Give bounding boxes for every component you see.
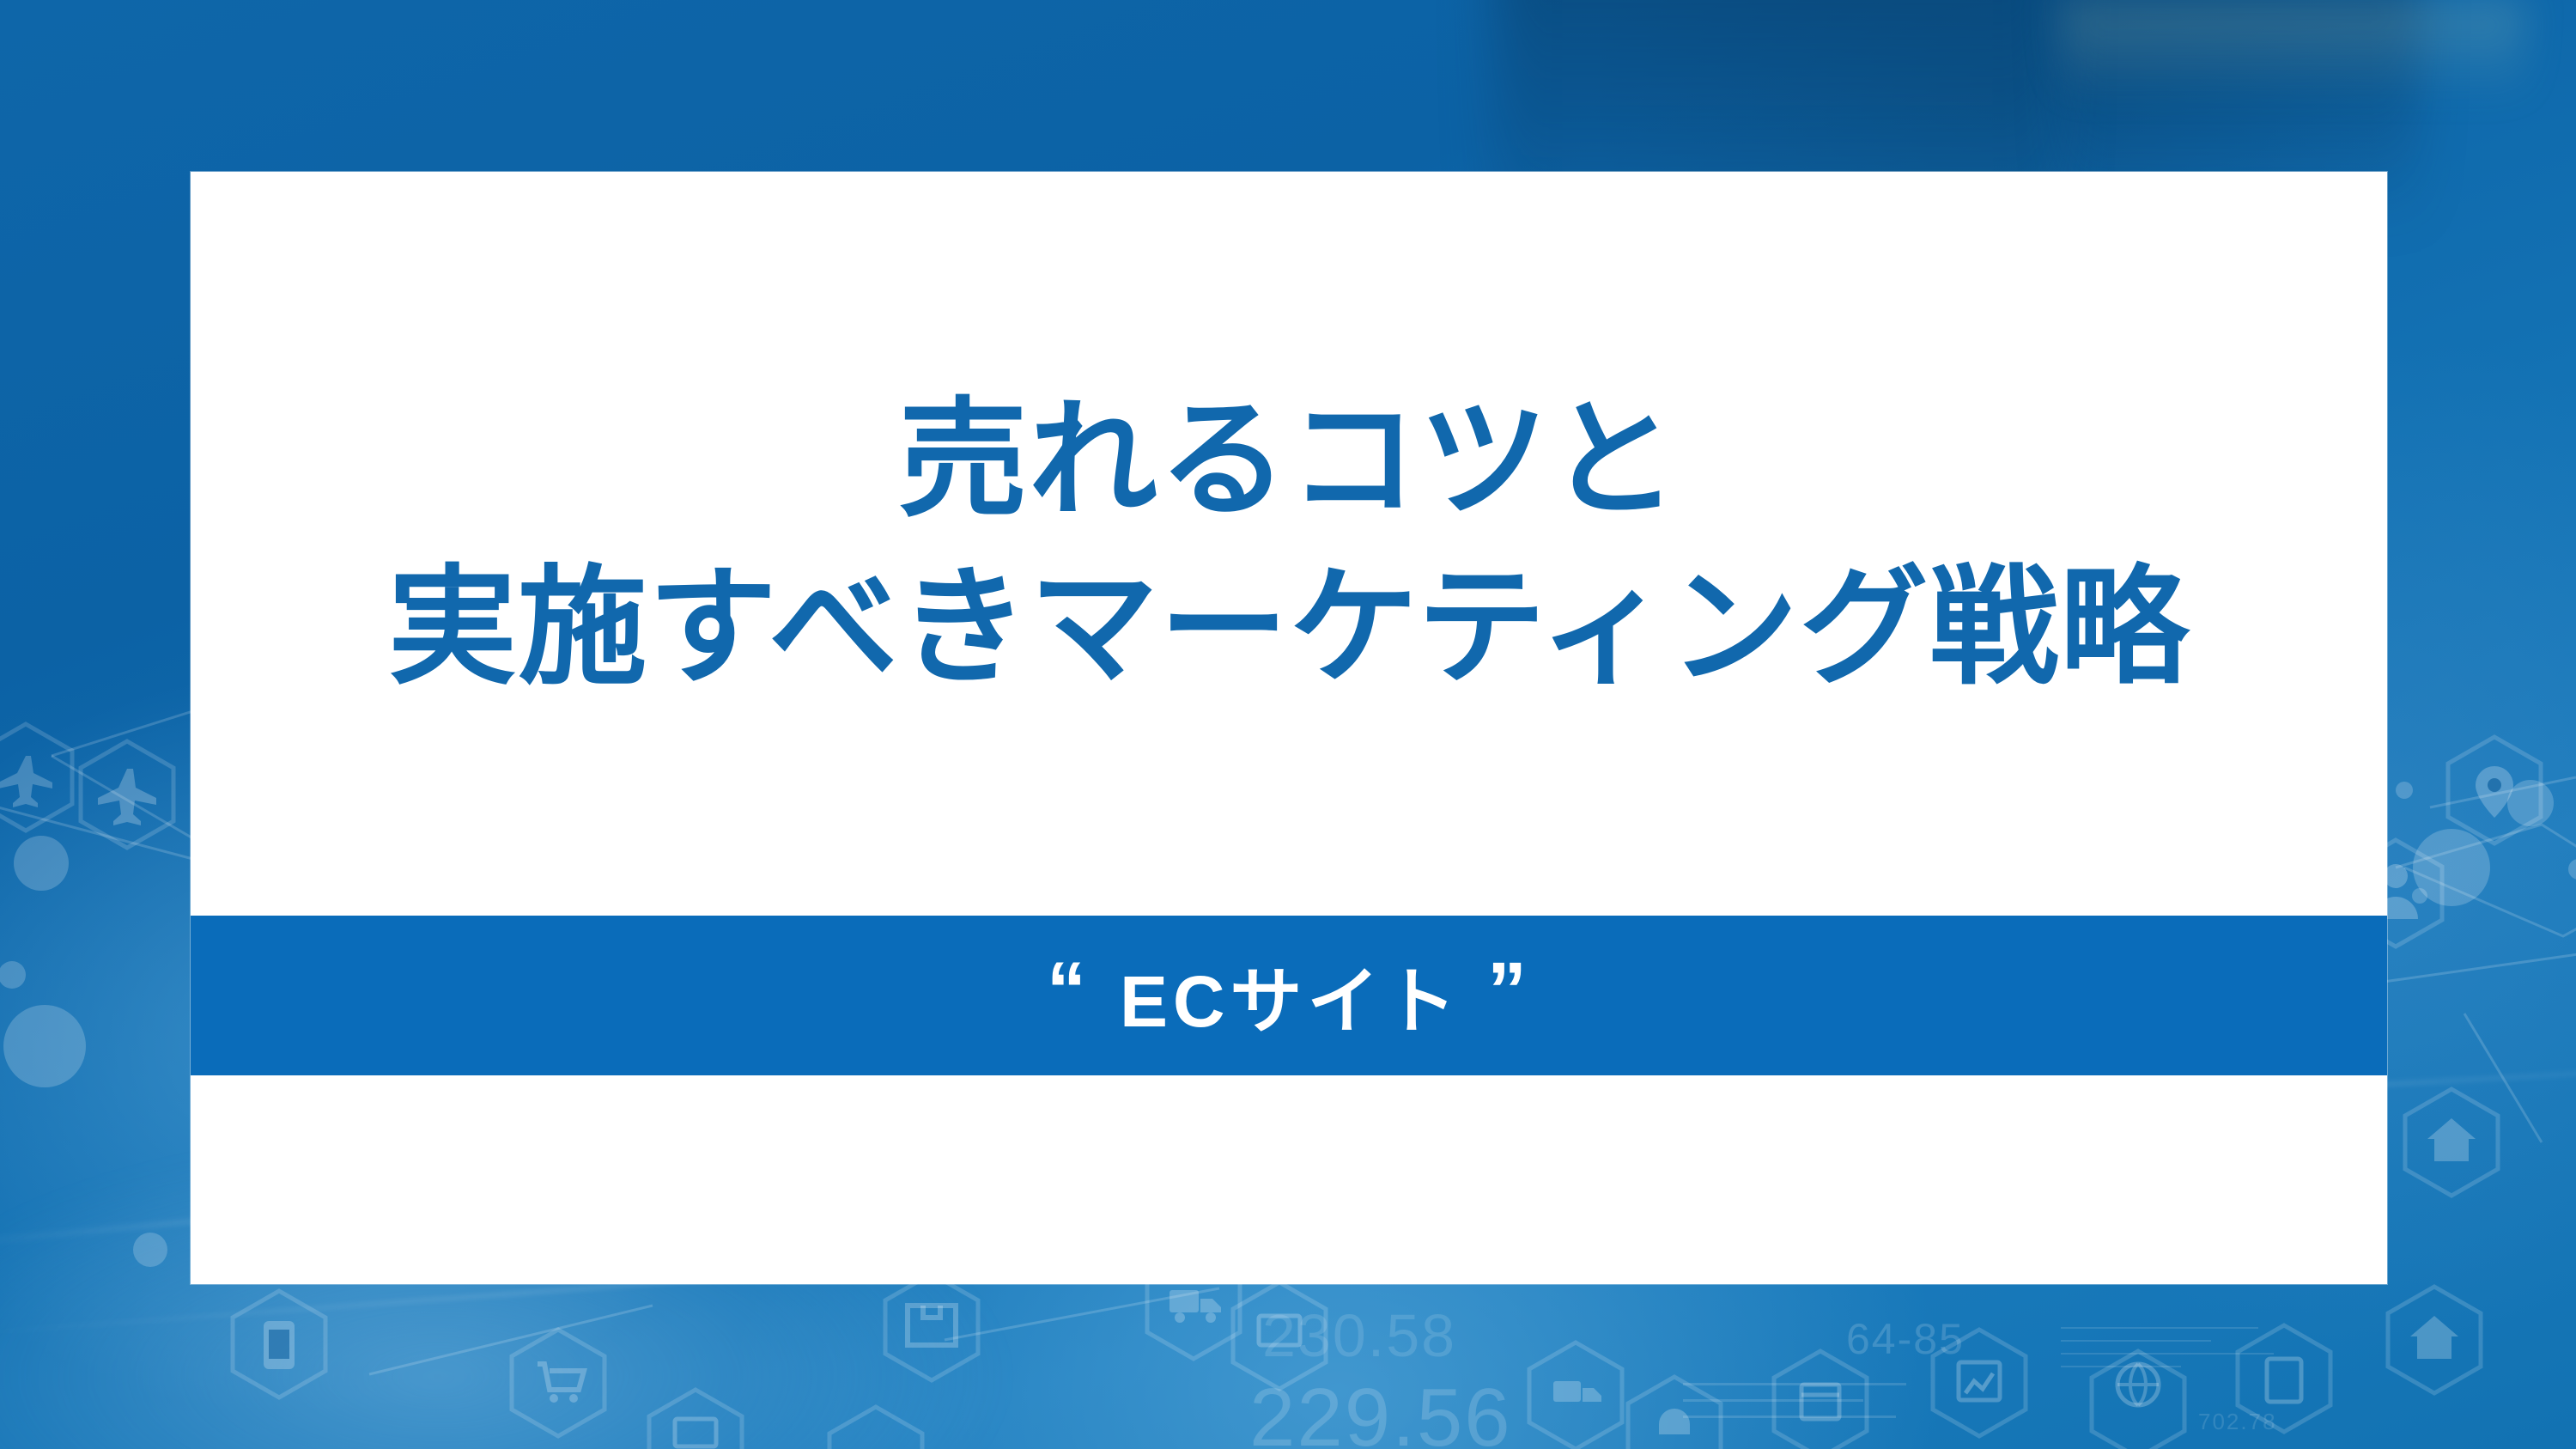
subtitle-banner-text: “ ECサイト ”: [1047, 944, 1531, 1048]
subtitle-label: ECサイト: [1120, 944, 1461, 1048]
page-title-line-1: 売れるコツと: [898, 376, 1679, 544]
background-number-tiny: 702.78: [2198, 1409, 2277, 1435]
background-number-big: 229.56: [1249, 1371, 1512, 1449]
open-quote-mark: “: [1047, 951, 1091, 1030]
background-hud-lines: [1683, 1383, 1941, 1432]
background-hud-lines-secondary: [2061, 1327, 2301, 1379]
subtitle-banner: “ ECサイト ”: [191, 916, 2387, 1075]
title-block: 売れるコツと 実施すべきマーケティング戦略: [191, 172, 2387, 916]
slide-canvas: 230.58 229.56 64-85 702.78 売れるコツと 実施すべきマ…: [0, 0, 2576, 1449]
background-number-mid: 230.58: [1262, 1301, 1456, 1370]
close-quote-mark: ”: [1487, 951, 1531, 1030]
card-footer-space: [191, 1075, 2387, 1284]
slide-card: 売れるコツと 実施すべきマーケティング戦略 “ ECサイト ”: [191, 172, 2387, 1284]
page-title-line-2: 実施すべきマーケティング戦略: [388, 544, 2190, 711]
background-number-small: 64-85: [1846, 1314, 1965, 1364]
